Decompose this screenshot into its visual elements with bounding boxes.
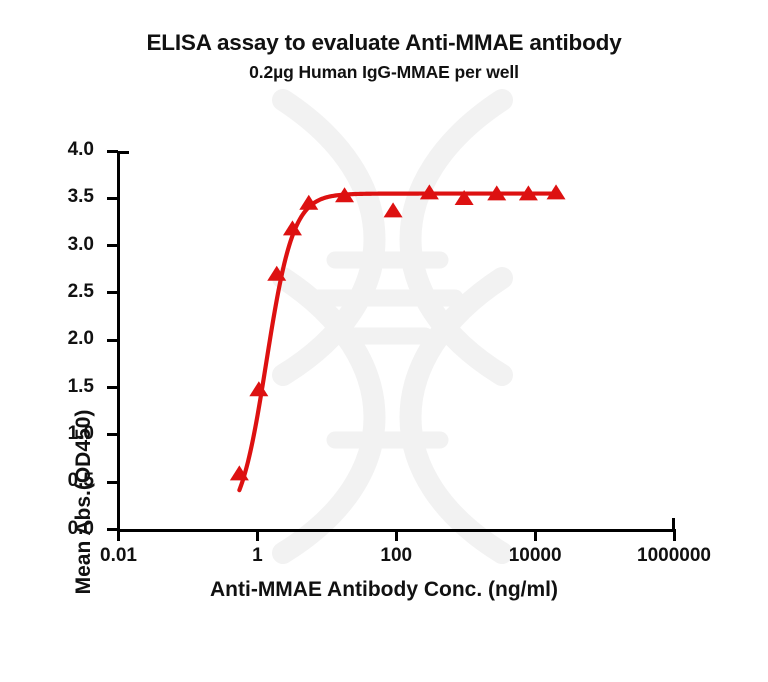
plot-area: 0.00.51.01.52.02.53.03.54.0 0.0111001000…	[0, 0, 768, 639]
data-point-marker	[384, 202, 403, 217]
chart-figure: ELISA assay to evaluate Anti-MMAE antibo…	[0, 0, 768, 639]
y-axis-title-holder: Mean Abs.(OD450)	[22, 160, 52, 520]
data-point-marker	[249, 381, 268, 396]
fit-curve	[239, 194, 556, 491]
x-axis-title: Anti-MMAE Antibody Conc. (ng/ml)	[0, 578, 768, 602]
y-axis-title: Mean Abs.(OD450)	[72, 322, 96, 682]
data-series-layer	[0, 0, 768, 639]
